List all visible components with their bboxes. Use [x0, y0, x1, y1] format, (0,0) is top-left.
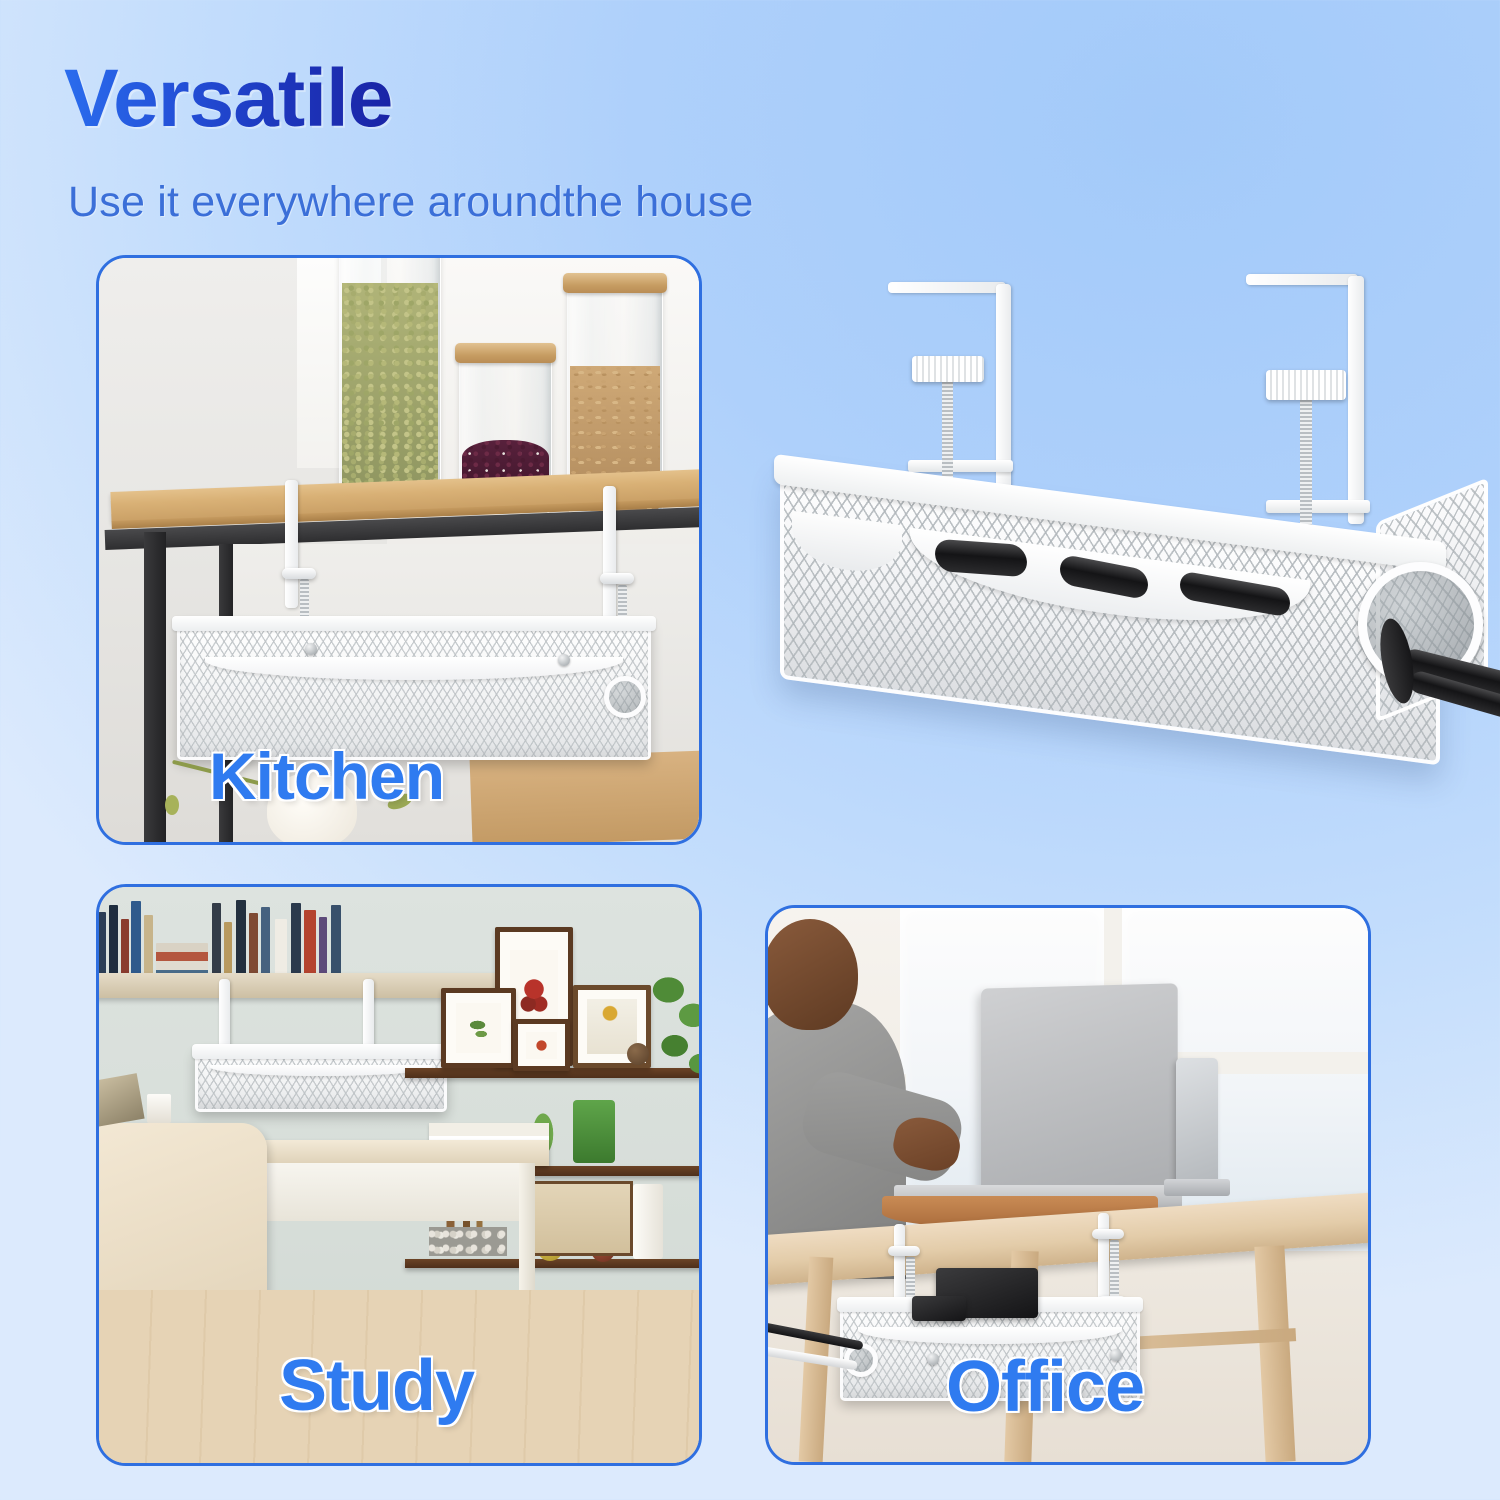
book — [97, 912, 106, 979]
kitchen-lower-shelf — [470, 750, 702, 845]
book — [109, 905, 119, 979]
book — [236, 900, 246, 979]
hero-clamp-arm-right-vertical — [1348, 276, 1364, 524]
panel-study[interactable]: Study — [96, 884, 702, 1466]
hero-thumbscrew-knob-left[interactable] — [912, 356, 984, 382]
tray-top-rim — [172, 616, 655, 631]
glass-jar-peas — [339, 255, 441, 503]
kitchen-frame-leg-left — [144, 532, 166, 842]
tray-top-rim — [192, 1044, 449, 1059]
study-clamp-right — [363, 979, 374, 1054]
hero-clamp-plate-left — [908, 460, 1013, 472]
office-phone-stand — [1164, 1179, 1230, 1196]
study-pressed-flower-art — [519, 1181, 633, 1256]
book — [304, 910, 315, 979]
caption-study: Study — [279, 1345, 474, 1427]
book — [224, 922, 232, 979]
study-pebble-box — [429, 1227, 507, 1256]
office-power-adapter-plug — [912, 1296, 966, 1321]
cable-tray-study[interactable] — [195, 1048, 447, 1111]
caption-office: Office — [946, 1346, 1144, 1428]
book — [319, 917, 328, 979]
book — [212, 903, 222, 979]
study-clamp-left — [219, 979, 230, 1054]
office-laptop-screen[interactable] — [981, 983, 1178, 1210]
bamboo-lid-oats — [563, 273, 666, 293]
panel-office[interactable]: Office — [765, 905, 1371, 1465]
office-person-head — [765, 919, 858, 1030]
office-phone[interactable] — [1176, 1058, 1218, 1185]
hero-clamp-plate-right — [1266, 500, 1370, 513]
book — [291, 903, 301, 979]
tray-cable-hole — [604, 676, 646, 718]
hero-thumbscrew-knob-right[interactable] — [1266, 370, 1346, 400]
panel-kitchen[interactable]: Kitchen — [96, 255, 702, 845]
jar-contents-green-peas — [342, 283, 438, 499]
study-bookshelf-books — [96, 893, 489, 979]
office-clamp-plate-left[interactable] — [888, 1246, 920, 1256]
clamp-knob-right[interactable] — [600, 573, 634, 584]
book — [249, 913, 258, 979]
framed-print-leaf — [441, 988, 516, 1069]
study-decor-ball-brown — [627, 1043, 649, 1065]
book — [131, 901, 141, 979]
book — [331, 905, 341, 979]
study-wall-decor — [96, 1073, 145, 1127]
caption-kitchen: Kitchen — [209, 738, 444, 814]
clamp-bracket-left — [285, 480, 298, 608]
page-headline: Versatile — [64, 58, 392, 140]
clamp-bracket-right — [603, 486, 616, 620]
clamp-knob-left[interactable] — [282, 568, 316, 579]
small-leaf-art — [526, 1032, 556, 1059]
leaf-art — [456, 1003, 502, 1052]
hero-clamp-arm-right-top — [1246, 274, 1358, 285]
office-clamp-plate-right[interactable] — [1092, 1229, 1124, 1239]
study-green-vase — [573, 1100, 615, 1163]
hero-clamp-arm-left-top — [888, 282, 1006, 293]
study-pothos-plant — [645, 962, 702, 1089]
book — [275, 919, 287, 979]
tray-screw-left — [305, 643, 317, 655]
study-cup — [147, 1094, 171, 1123]
book — [121, 919, 129, 979]
hero-product-image — [760, 262, 1500, 852]
study-paper-roll — [633, 1184, 663, 1259]
book — [261, 907, 271, 980]
book — [144, 915, 153, 979]
framed-print-small-leaf — [513, 1019, 570, 1071]
page-subheadline: Use it everywhere aroundthe house — [68, 178, 753, 227]
bamboo-lid-beans — [455, 343, 555, 363]
